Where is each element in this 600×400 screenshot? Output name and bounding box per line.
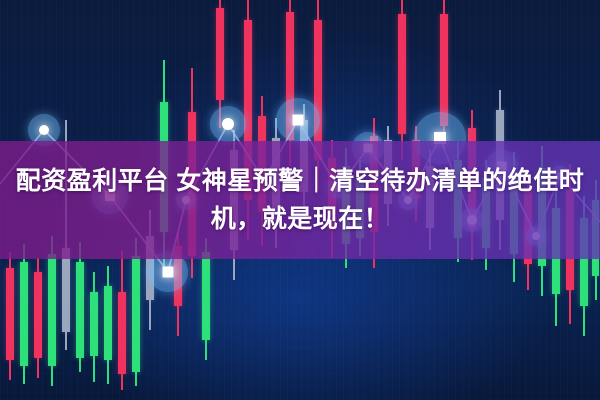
zigzag-node-marker: [163, 267, 174, 278]
promo-banner: 配资盈利平台 女神星预警｜清空待办清单的绝佳时 机，就是现在！: [0, 0, 600, 400]
headline-block: 配资盈利平台 女神星预警｜清空待办清单的绝佳时 机，就是现在！: [0, 141, 600, 259]
zigzag-node-marker: [39, 125, 49, 135]
zigzag-node-marker: [222, 118, 234, 130]
headline-line-2: 机，就是现在！: [211, 200, 390, 238]
headline-line-1: 配资盈利平台 女神星预警｜清空待办清单的绝佳时: [16, 162, 584, 200]
zigzag-node-marker: [293, 115, 304, 126]
